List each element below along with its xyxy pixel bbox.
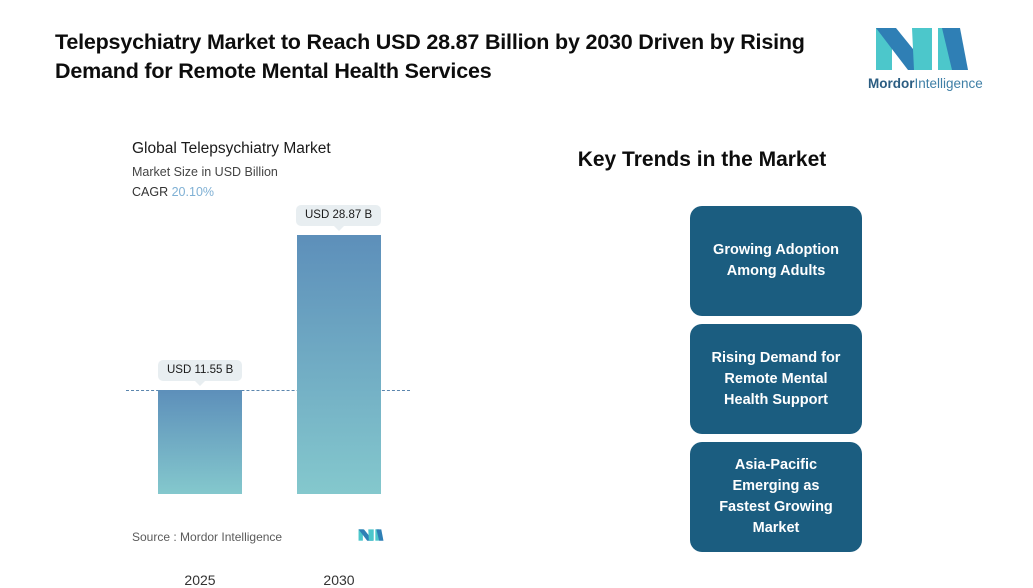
trend-card-1-line1: Growing Adoption [713, 240, 839, 261]
page-title: Telepsychiatry Market to Reach USD 28.87… [55, 28, 845, 86]
brand-wordmark-light: Intelligence [915, 76, 983, 91]
trend-card-3-text: Asia-Pacific Emerging as Fastest Growing… [719, 455, 833, 539]
trend-card-3-line4: Market [719, 518, 833, 539]
trend-card-3[interactable]: Asia-Pacific Emerging as Fastest Growing… [690, 442, 862, 552]
trends-panel: Key Trends in the Market Growing Adoptio… [548, 140, 988, 550]
trend-card-3-line3: Fastest Growing [719, 497, 833, 518]
source-text: Source : Mordor Intelligence [132, 530, 282, 544]
mordor-intelligence-mark [874, 24, 970, 74]
chart-cagr-value: 20.10% [172, 185, 214, 199]
chart-title: Global Telepsychiatry Market [132, 140, 331, 158]
header: Telepsychiatry Market to Reach USD 28.87… [0, 0, 1033, 112]
chart-subtitle: Market Size in USD Billion [132, 165, 278, 179]
brand-logo: MordorIntelligence [868, 24, 976, 92]
category-label-2025: 2025 [158, 572, 242, 588]
bar-2030[interactable] [297, 235, 381, 494]
trend-card-2-line2: Remote Mental [712, 369, 841, 390]
source-name: Mordor Intelligence [180, 530, 282, 544]
value-label-2025: USD 11.55 B [158, 360, 242, 381]
trend-card-2-line1: Rising Demand for [712, 348, 841, 369]
category-label-2030: 2030 [297, 572, 381, 588]
trend-card-3-line2: Emerging as [719, 476, 833, 497]
source-logo-icon [358, 527, 384, 543]
chart-cagr: CAGR 20.10% [132, 185, 214, 199]
trend-card-1-text: Growing Adoption Among Adults [713, 240, 839, 282]
trend-card-1[interactable]: Growing Adoption Among Adults [690, 206, 862, 316]
trends-title: Key Trends in the Market [548, 148, 856, 172]
source-label: Source : [132, 530, 177, 544]
trend-card-2-text: Rising Demand for Remote Mental Health S… [712, 348, 841, 411]
trend-card-2-line3: Health Support [712, 390, 841, 411]
trend-card-2[interactable]: Rising Demand for Remote Mental Health S… [690, 324, 862, 434]
trend-card-3-line1: Asia-Pacific [719, 455, 833, 476]
chart-cagr-label: CAGR [132, 185, 168, 199]
trend-card-1-line2: Among Adults [713, 261, 839, 282]
plot-area: USD 11.55 B USD 28.87 B 2025 2030 [126, 204, 426, 494]
brand-wordmark-bold: Mordor [868, 76, 915, 91]
chart-panel: Global Telepsychiatry Market Market Size… [126, 132, 426, 547]
value-label-2030: USD 28.87 B [296, 205, 381, 226]
bar-2025[interactable] [158, 390, 242, 494]
brand-wordmark: MordorIntelligence [868, 76, 976, 91]
source-row: Source : Mordor Intelligence [132, 527, 422, 549]
